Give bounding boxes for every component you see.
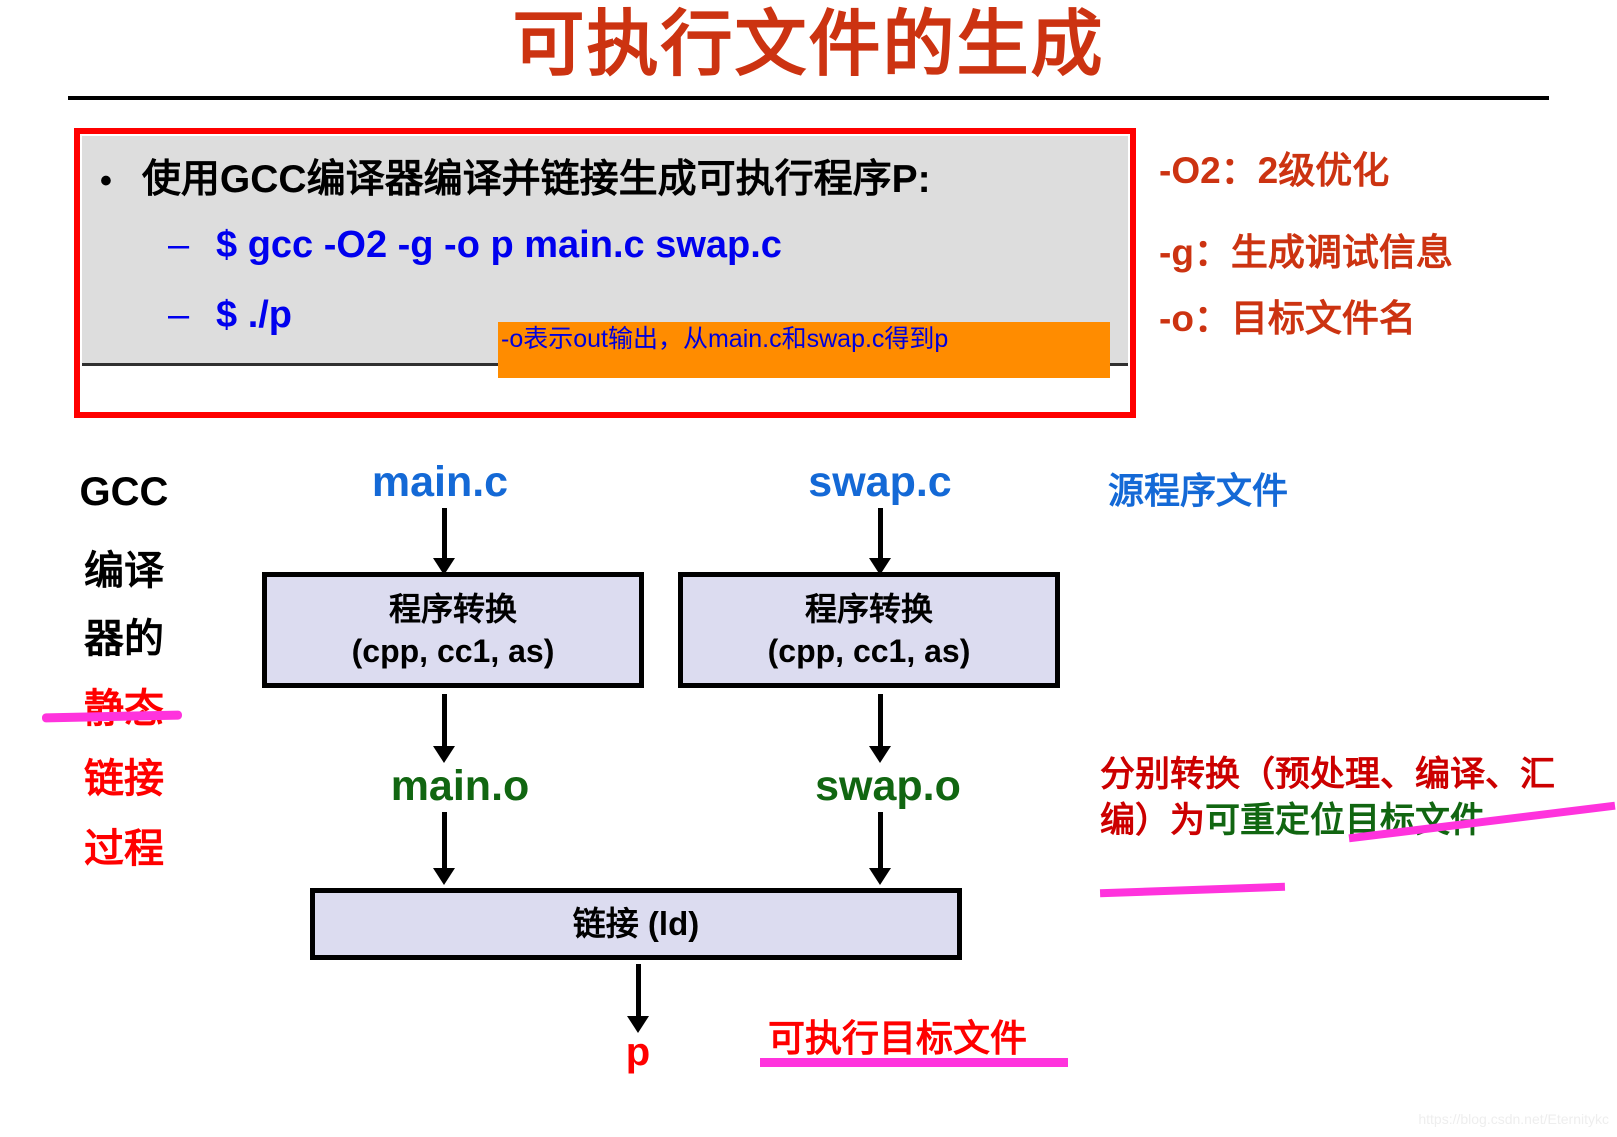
arrow-main-o-to-link — [442, 812, 447, 870]
command-line-2: – $ ./p — [168, 294, 292, 337]
bullet-item-main-label: 使用GCC编译器编译并链接生成可执行程序P: — [142, 148, 931, 204]
side-label-line-2: 编译 — [44, 538, 204, 596]
flow-box-transform-swap-subtitle: (cpp, cc1, as) — [768, 630, 971, 672]
highlight-underline-object-file — [1100, 883, 1285, 897]
flow-node-main-o: main.o — [350, 762, 570, 811]
flow-box-transform-main-subtitle: (cpp, cc1, as) — [352, 630, 555, 672]
side-label-line-5: 链接 — [44, 746, 204, 804]
side-label-line-1: GCC — [44, 470, 204, 515]
annotation-convert-red-line1: 分别转换（预处理、编 — [1100, 755, 1450, 794]
highlight-underline-executable — [760, 1058, 1068, 1067]
callout-note-output: -o表示out输出，从main.c和swap.c得到p — [498, 322, 1110, 378]
page-title: 可执行文件的生成 — [0, 2, 1617, 88]
command-line-1-label: $ gcc -O2 -g -o p main.c swap.c — [216, 224, 782, 267]
flow-box-link-label: 链接 (ld) — [573, 903, 699, 945]
option-legend-g: -g：生成调试信息 — [1159, 222, 1453, 276]
command-line-2-label: $ ./p — [216, 294, 292, 337]
flow-box-transform-swap-title: 程序转换 — [805, 588, 933, 630]
command-line-1: – $ gcc -O2 -g -o p main.c swap.c — [168, 224, 782, 267]
arrow-swap-o-to-link — [878, 812, 883, 870]
side-label-line-6: 过程 — [44, 816, 204, 874]
flow-box-transform-main: 程序转换 (cpp, cc1, as) — [262, 572, 644, 688]
annotation-convert-note: 分别转换（预处理、编译、汇编）为可重定位目标文件 — [1100, 752, 1600, 844]
flow-node-swap-o: swap.o — [778, 762, 998, 811]
watermark-url: https://blog.csdn.net/Eternitykc — [1418, 1111, 1609, 1127]
arrow-transform-to-swap-o — [878, 694, 883, 748]
annotation-source-files: 源程序文件 — [1108, 462, 1288, 514]
option-legend-o2: -O2：2级优化 — [1159, 140, 1389, 194]
bullet-dot-icon: • — [100, 164, 112, 198]
arrow-swap-c-to-transform — [878, 508, 883, 560]
flow-box-transform-main-title: 程序转换 — [389, 588, 517, 630]
annotation-executable-file: 可执行目标文件 — [768, 1008, 1027, 1062]
flow-box-link: 链接 (ld) — [310, 888, 962, 960]
flow-node-main-c: main.c — [330, 458, 550, 507]
bullet-item-main: • 使用GCC编译器编译并链接生成可执行程序P: — [100, 148, 931, 204]
option-legend-o: -o：目标文件名 — [1159, 288, 1416, 342]
side-label-line-4: 静态 — [44, 676, 204, 734]
flow-box-transform-swap: 程序转换 (cpp, cc1, as) — [678, 572, 1060, 688]
title-divider — [68, 96, 1549, 100]
annotation-convert-green-line1: 可重定位 — [1205, 801, 1345, 840]
arrow-transform-to-main-o — [442, 694, 447, 748]
flow-node-swap-c: swap.c — [770, 458, 990, 507]
flow-node-output-p: p — [588, 1030, 688, 1075]
dash-marker-icon: – — [168, 294, 198, 337]
arrow-main-c-to-transform — [442, 508, 447, 560]
side-label-line-3: 器的 — [44, 606, 204, 664]
arrow-link-to-p — [636, 964, 641, 1018]
dash-marker-icon: – — [168, 224, 198, 267]
